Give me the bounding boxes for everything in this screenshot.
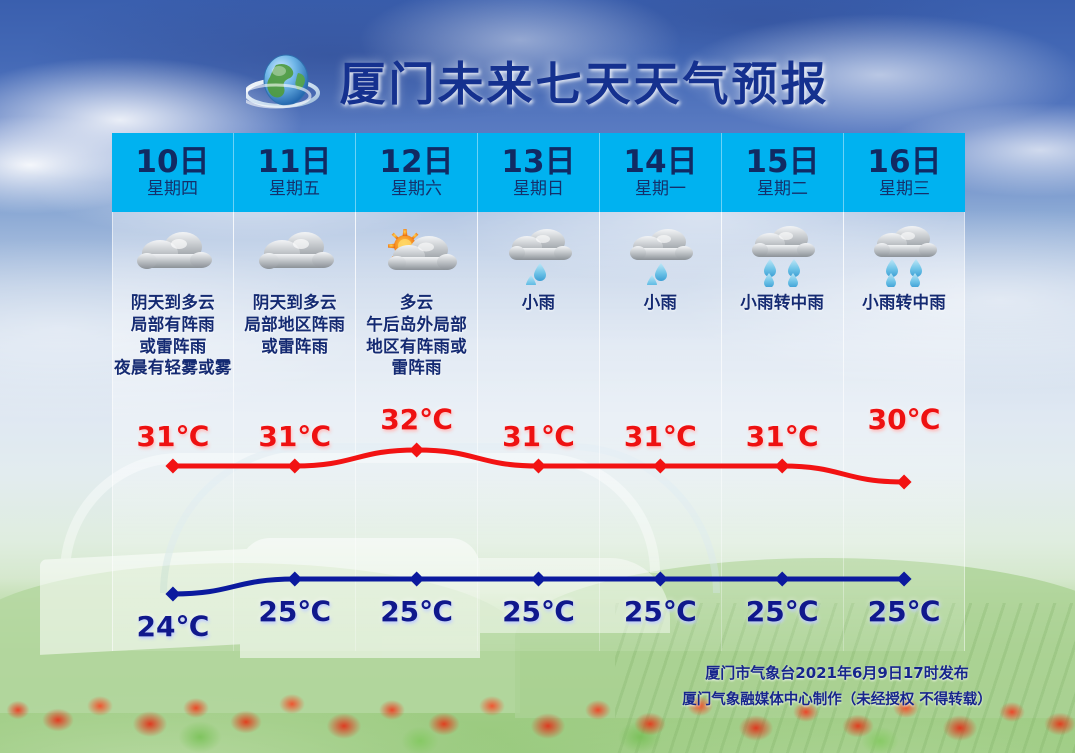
date-header-cell-1: 11日 星期五 [234, 133, 356, 212]
weekday-label: 星期三 [879, 180, 930, 199]
title-bar: 厦门未来七天天气预报 [0, 42, 1075, 120]
light-rain-icon [599, 220, 721, 288]
forecast-column-0: 阴天到多云局部有阵雨或雷阵雨夜晨有轻雾或雾 31℃ 24℃ [112, 212, 234, 651]
day-number: 12日 [379, 147, 453, 178]
weather-description: 阴天到多云局部有阵雨或雷阵雨夜晨有轻雾或雾 [112, 292, 234, 379]
weekday-label: 星期六 [391, 180, 442, 199]
date-header-row: 10日 星期四 11日 星期五 12日 星期六 13日 星期日 14日 星期一 … [112, 133, 965, 212]
date-header-cell-5: 15日 星期二 [722, 133, 844, 212]
light-rain-icon [478, 220, 600, 288]
weather-description: 阴天到多云局部地区阵雨或雷阵雨 [234, 292, 356, 357]
weather-description: 小雨转中雨 [721, 292, 843, 314]
low-temp-label: 25℃ [599, 598, 721, 626]
forecast-columns: 阴天到多云局部有阵雨或雷阵雨夜晨有轻雾或雾 31℃ 24℃ 阴天到多云局部地区阵… [112, 212, 965, 651]
forecast-column-5: 小雨转中雨 31℃ 25℃ [721, 212, 843, 651]
low-temp-label: 25℃ [234, 598, 356, 626]
weather-description: 小雨转中雨 [843, 292, 965, 314]
weekday-label: 星期五 [269, 180, 320, 199]
high-temp-label: 31℃ [112, 423, 234, 451]
low-temp-label: 24℃ [112, 613, 234, 641]
date-header-cell-3: 13日 星期日 [478, 133, 600, 212]
weather-description: 多云午后岛外局部地区有阵雨或雷阵雨 [356, 292, 478, 379]
issue-statement: 厦门市气象台2021年6月9日17时发布 [627, 659, 1047, 688]
day-number: 16日 [867, 147, 941, 178]
high-temp-label: 31℃ [599, 423, 721, 451]
date-header-cell-4: 14日 星期一 [600, 133, 722, 212]
forecast-column-6: 小雨转中雨 30℃ 25℃ [843, 212, 965, 651]
day-number: 11日 [257, 147, 331, 178]
forecast-column-4: 小雨 31℃ 25℃ [599, 212, 721, 651]
weekday-label: 星期四 [147, 180, 198, 199]
day-number: 13日 [501, 147, 575, 178]
forecast-column-1: 阴天到多云局部地区阵雨或雷阵雨 31℃ 25℃ [234, 212, 356, 651]
high-temp-label: 32℃ [356, 406, 478, 434]
date-header-cell-0: 10日 星期四 [112, 133, 234, 212]
high-temp-label: 31℃ [234, 423, 356, 451]
globe-icon [246, 49, 324, 113]
low-temp-label: 25℃ [478, 598, 600, 626]
day-number: 15日 [745, 147, 819, 178]
page-title: 厦门未来七天天气预报 [340, 48, 830, 114]
low-temp-label: 25℃ [721, 598, 843, 626]
weather-description: 小雨 [599, 292, 721, 314]
overcast-cloud-icon [112, 220, 234, 288]
date-header-cell-2: 12日 星期六 [356, 133, 478, 212]
weekday-label: 星期日 [513, 180, 564, 199]
copyright-statement: 厦门气象融媒体中心制作（未经授权 不得转载） [627, 687, 1047, 715]
low-temp-label: 25℃ [356, 598, 478, 626]
moderate-rain-icon [843, 220, 965, 288]
forecast-column-2: 多云午后岛外局部地区有阵雨或雷阵雨 32℃ 25℃ [356, 212, 478, 651]
high-temp-label: 30℃ [843, 406, 965, 434]
weekday-label: 星期二 [757, 180, 808, 199]
forecast-column-3: 小雨 31℃ 25℃ [478, 212, 600, 651]
sun-behind-cloud-icon [356, 220, 478, 288]
footer: 厦门市气象台2021年6月9日17时发布 厦门气象融媒体中心制作（未经授权 不得… [627, 659, 1047, 715]
low-temp-label: 25℃ [843, 598, 965, 626]
weather-forecast-infographic: 厦门未来七天天气预报 10日 星期四 11日 星期五 12日 星期六 13日 星… [0, 0, 1075, 753]
high-temp-label: 31℃ [478, 423, 600, 451]
day-number: 10日 [135, 147, 209, 178]
high-temp-label: 31℃ [721, 423, 843, 451]
weekday-label: 星期一 [635, 180, 686, 199]
moderate-rain-icon [721, 220, 843, 288]
overcast-cloud-icon [234, 220, 356, 288]
date-header-cell-6: 16日 星期三 [844, 133, 965, 212]
day-number: 14日 [623, 147, 697, 178]
weather-description: 小雨 [478, 292, 600, 314]
